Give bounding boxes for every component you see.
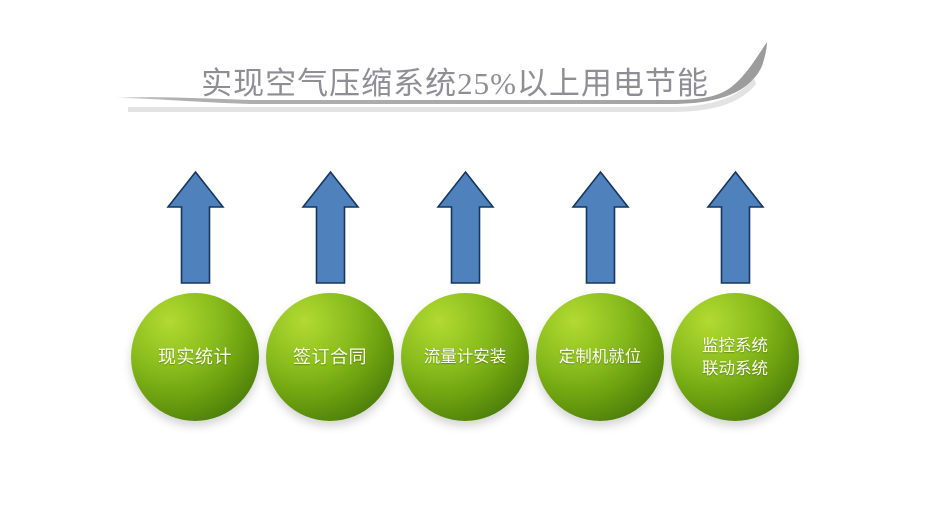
process-step-1[interactable]: 现实统计: [128, 165, 263, 430]
up-arrow-icon-2: [263, 165, 398, 290]
up-arrow-icon-4: [533, 165, 668, 290]
up-arrow-icon-5: [668, 165, 803, 290]
step-circle-5[interactable]: 监控系统 联动系统: [671, 293, 799, 421]
step-circle-2[interactable]: 签订合同: [266, 293, 394, 421]
step-label-3: 流量计安装: [418, 345, 513, 369]
process-diagram: 现实统计 签订合同 流量计安装: [0, 0, 945, 529]
step-circle-4[interactable]: 定制机就位: [536, 293, 664, 421]
process-step-3[interactable]: 流量计安装: [398, 165, 533, 430]
slide-canvas: 实现空气压缩系统25%以上用电节能 现实统计 签订合同: [0, 0, 945, 529]
step-label-4: 定制机就位: [553, 345, 648, 369]
step-circle-1[interactable]: 现实统计: [131, 293, 259, 421]
process-step-4[interactable]: 定制机就位: [533, 165, 668, 430]
step-circle-3[interactable]: 流量计安装: [401, 293, 529, 421]
process-step-2[interactable]: 签订合同: [263, 165, 398, 430]
step-label-2: 签订合同: [287, 345, 373, 369]
step-label-5: 监控系统 联动系统: [696, 334, 774, 380]
process-step-5[interactable]: 监控系统 联动系统: [668, 165, 803, 430]
up-arrow-icon-3: [398, 165, 533, 290]
up-arrow-icon-1: [128, 165, 263, 290]
step-label-1: 现实统计: [152, 345, 238, 369]
